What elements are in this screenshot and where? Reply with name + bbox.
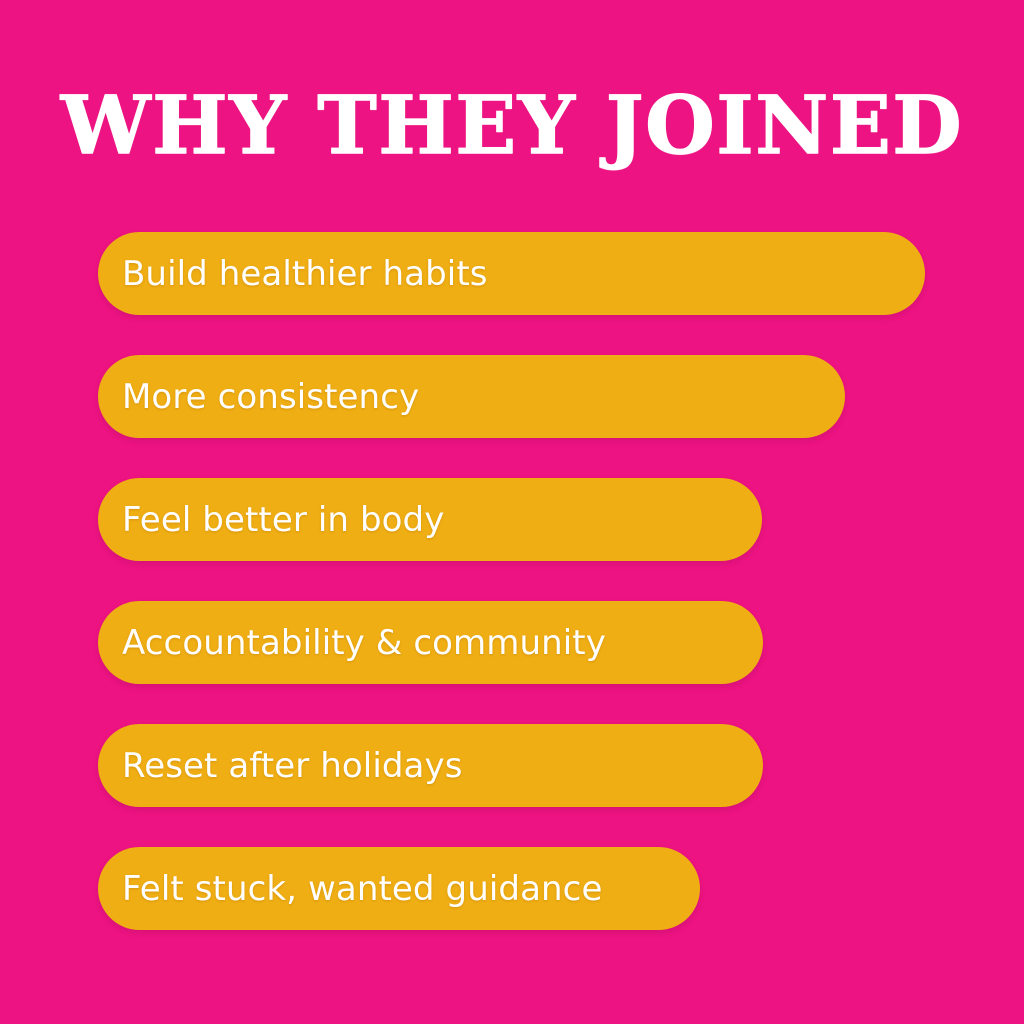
reason-label: Felt stuck, wanted guidance	[122, 870, 602, 908]
poster-canvas: WHY THEY JOINED Build healthier habits M…	[0, 0, 1024, 1024]
reason-label: Reset after holidays	[122, 747, 463, 785]
list-item: Build healthier habits	[98, 232, 925, 315]
reason-label: More consistency	[122, 378, 419, 416]
list-item: More consistency	[98, 355, 845, 438]
list-item: Feel better in body	[98, 478, 762, 561]
reason-list: Build healthier habits More consistency …	[98, 232, 998, 930]
reason-label: Accountability & community	[122, 624, 606, 662]
reason-label: Feel better in body	[122, 501, 444, 539]
reason-label: Build healthier habits	[122, 255, 488, 293]
list-item: Accountability & community	[98, 601, 763, 684]
list-item: Felt stuck, wanted guidance	[98, 847, 700, 930]
page-title: WHY THEY JOINED	[0, 82, 1024, 168]
list-item: Reset after holidays	[98, 724, 763, 807]
